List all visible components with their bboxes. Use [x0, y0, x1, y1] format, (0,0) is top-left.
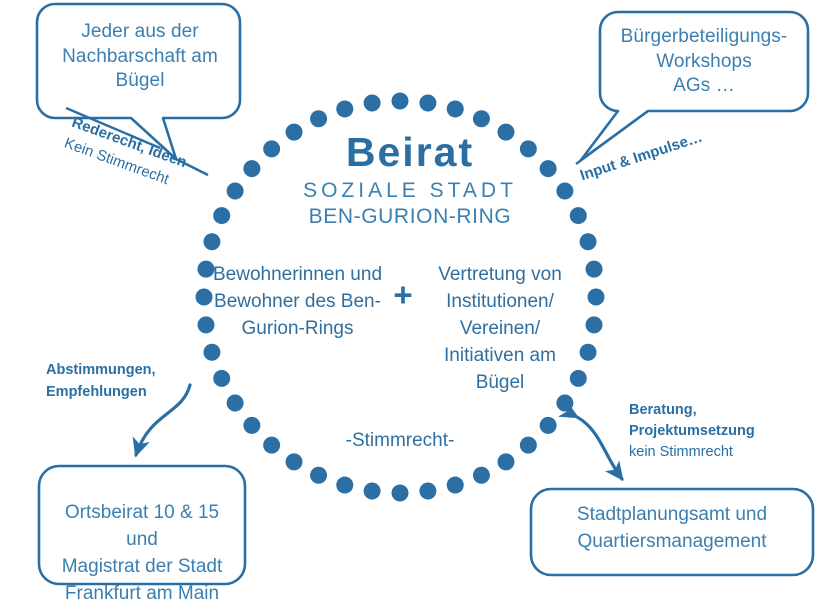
brand-subtitle-1: SOZIALE STADT	[0, 179, 820, 203]
annotation-bottom-left: Abstimmungen, Empfehlungen	[46, 360, 236, 404]
bubble-top-left-line-1: Jeder aus der	[44, 20, 236, 45]
ring-dot	[336, 100, 353, 117]
arrow-beratung	[577, 417, 622, 479]
box-bottom-left-line-1: Ortsbeirat 10 & 15	[40, 500, 244, 527]
box-bottom-right-text: Stadtplanungsamt und Quartiersmanagement	[532, 502, 812, 556]
ring-dot	[447, 477, 464, 494]
bubble-top-left-line-3: Bügel	[44, 69, 236, 94]
annotation-bottom-left-line-1: Abstimmungen,	[46, 360, 236, 382]
ring-dot	[586, 261, 603, 278]
annotation-bottom-right-regular: kein Stimmrecht	[629, 442, 819, 463]
bubble-top-right-line-1: Bürgerbeteiligungs-	[606, 25, 802, 50]
annotation-bottom-left-line-2: Empfehlungen	[46, 382, 236, 404]
ring-dot	[203, 344, 220, 361]
box-bottom-right-line-1: Stadtplanungsamt und	[532, 502, 812, 529]
bubble-top-left-text: Jeder aus der Nachbarschaft am Bügel	[44, 20, 236, 94]
annotation-bottom-right: Beratung, Projektumsetzung kein Stimmrec…	[629, 400, 819, 463]
box-bottom-right-line-2: Quartiersmanagement	[532, 529, 812, 556]
ring-dot	[336, 477, 353, 494]
box-bottom-left-text: Ortsbeirat 10 & 15 und Magistrat der Sta…	[40, 500, 244, 608]
ring-dot	[556, 394, 573, 411]
ring-dot	[364, 94, 381, 111]
bubble-top-right-line-2: Workshops	[606, 50, 802, 75]
ring-dot	[473, 110, 490, 127]
box-bottom-left-line-3: Magistrat der Stadt	[40, 554, 244, 581]
annotation-bottom-right-line-1: Beratung,	[629, 400, 819, 421]
center-right-column: Vertretung von Institutionen/ Vereinen/ …	[420, 262, 580, 397]
ring-dot	[580, 344, 597, 361]
ring-dot	[310, 467, 327, 484]
ring-dot	[243, 417, 260, 434]
brand-subtitle-2: BEN-GURION-RING	[0, 205, 820, 229]
center-footer-stimmrecht: -Stimmrecht-	[300, 430, 500, 452]
ring-dot	[540, 417, 557, 434]
box-bottom-left-line-4: Frankfurt am Main	[40, 581, 244, 608]
bubble-top-right-text: Bürgerbeteiligungs- Workshops AGs …	[606, 25, 802, 99]
ring-dot	[392, 485, 409, 502]
ring-dot	[263, 437, 280, 454]
ring-dot	[586, 316, 603, 333]
ring-dot	[497, 453, 514, 470]
plus-icon: +	[386, 278, 420, 311]
ring-dot	[392, 93, 409, 110]
ring-dot	[364, 483, 381, 500]
ring-dot	[588, 289, 605, 306]
annotation-bottom-right-line-2: Projektumsetzung	[629, 421, 819, 442]
ring-dot	[203, 233, 220, 250]
ring-dot	[447, 100, 464, 117]
ring-dot	[580, 233, 597, 250]
bubble-top-left-line-2: Nachbarschaft am	[44, 45, 236, 70]
ring-dot	[286, 453, 303, 470]
center-left-column: Bewohnerinnen und Bewohner des Ben-Gurio…	[205, 262, 390, 343]
diagram-canvas: Jeder aus der Nachbarschaft am Bügel Bür…	[0, 0, 820, 600]
ring-dot	[310, 110, 327, 127]
ring-dot	[520, 437, 537, 454]
ring-dot	[419, 94, 436, 111]
ring-dot	[473, 467, 490, 484]
bubble-top-right-line-3: AGs …	[606, 74, 802, 99]
ring-dot	[419, 483, 436, 500]
box-bottom-left-line-2: und	[40, 527, 244, 554]
